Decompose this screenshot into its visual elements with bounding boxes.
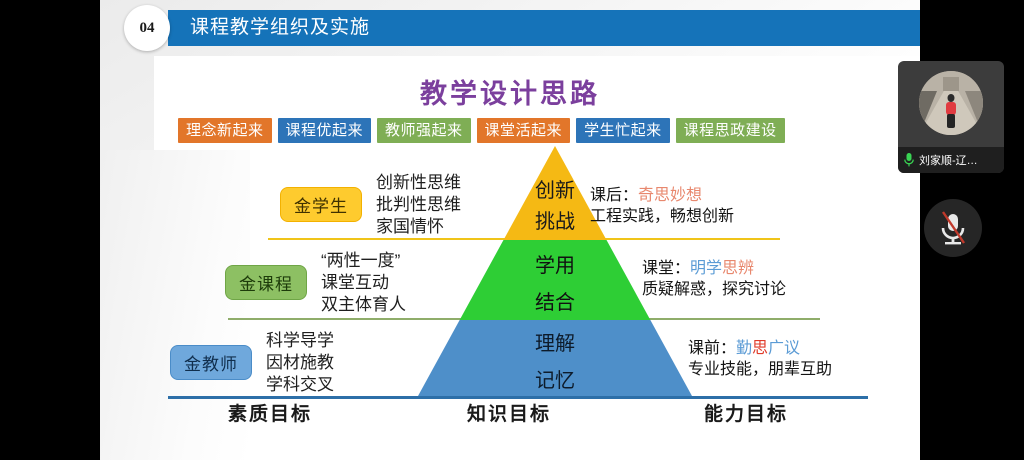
tag-chip: 课程优起来 [278, 118, 372, 143]
tier-bottom-right-highlight-b: 思 [752, 340, 768, 357]
tier-bottom-left-line3: 学科交叉 [266, 374, 334, 396]
tier-bottom-right-prefix: 课前： [688, 340, 736, 357]
presentation-slide: 课程教学组织及实施 04 教学设计思路 理念新起来 课程优起来 教师强起来 课堂… [100, 0, 920, 460]
participant-name: 刘家顺-辽… [919, 152, 978, 168]
tier-middle-left-line2: 课堂互动 [321, 272, 406, 294]
tier-top-left-group: 金学生 创新性思维 批判性思维 家国情怀 [280, 172, 461, 237]
tier-bottom-right-highlight-a: 勤 [736, 340, 752, 357]
avatar-photo [919, 71, 983, 135]
tier-bottom-right-group: 课前：勤思广议 专业技能，朋辈互助 [688, 338, 832, 380]
screen-share-view: 课程教学组织及实施 04 教学设计思路 理念新起来 课程优起来 教师强起来 课堂… [0, 0, 1024, 460]
tier-bottom-left-group: 金教师 科学导学 因材施教 学科交叉 [170, 330, 334, 395]
tier-bottom-left-line2: 因材施教 [266, 352, 334, 374]
pyramid-bottom-center-label: 理解 记忆 [503, 326, 607, 400]
divider-rule-gold [268, 238, 780, 240]
pyramid-bottom-line2: 记忆 [503, 363, 607, 400]
slide-title: 教学设计思路 [100, 72, 920, 111]
pyramid-middle-center-label: 学用 结合 [503, 248, 607, 322]
tier-middle-right-line2: 质疑解惑，探究讨论 [642, 279, 786, 300]
mic-toggle-button[interactable] [924, 199, 982, 257]
tier-top-left-line2: 批判性思维 [376, 194, 461, 216]
tag-chip: 理念新起来 [178, 118, 272, 143]
tier-top-left-line3: 家国情怀 [376, 216, 461, 238]
tier-bottom-left-lines: 科学导学 因材施教 学科交叉 [266, 330, 334, 395]
microphone-muted-icon [924, 199, 982, 257]
tier-middle-left-line3: 双主体育人 [321, 294, 406, 316]
participant-footer: 刘家顺-辽… [898, 147, 1004, 173]
tier-bottom-right-line1: 课前：勤思广议 [688, 338, 832, 359]
tier-middle-left-lines: “两性一度” 课堂互动 双主体育人 [321, 250, 406, 315]
tier-middle-right-group: 课堂：明学思辨 质疑解惑，探究讨论 [642, 258, 786, 300]
goal-label-quality: 素质目标 [228, 399, 312, 426]
tier-top-right-group: 课后：奇思妙想 工程实践，畅想创新 [590, 185, 734, 227]
participant-video-tile[interactable]: 刘家顺-辽… [898, 61, 1004, 173]
slide-section-number-badge: 04 [124, 5, 170, 51]
tier-top-right-prefix: 课后： [590, 187, 638, 204]
tag-chip: 课堂活起来 [477, 118, 571, 143]
tier-bottom-right-line2: 专业技能，朋辈互助 [688, 359, 832, 380]
tier-middle-right-line1: 课堂：明学思辨 [642, 258, 786, 279]
avatar [919, 71, 983, 135]
tier-top-right-line1: 课后：奇思妙想 [590, 185, 734, 206]
pyramid-middle-line1: 学用 [503, 248, 607, 285]
chip-gold-teacher: 金教师 [170, 345, 252, 380]
tier-bottom-right-highlight-c: 广议 [768, 340, 800, 357]
tag-row: 理念新起来 课程优起来 教师强起来 课堂活起来 学生忙起来 课程思政建设 [178, 118, 868, 143]
tag-chip: 教师强起来 [377, 118, 471, 143]
tier-top-right-highlight: 奇思妙想 [638, 187, 702, 204]
tier-middle-right-highlight-a: 明学 [690, 260, 722, 277]
goal-label-ability: 能力目标 [704, 399, 788, 426]
tier-bottom-left-line1: 科学导学 [266, 330, 334, 352]
tier-top-right-line2: 工程实践，畅想创新 [590, 206, 734, 227]
pyramid-middle-line2: 结合 [503, 285, 607, 322]
goal-label-knowledge: 知识目标 [467, 399, 551, 426]
pyramid-bottom-line1: 理解 [503, 326, 607, 363]
tag-chip: 课程思政建设 [676, 118, 785, 143]
tier-top-left-lines: 创新性思维 批判性思维 家国情怀 [376, 172, 461, 237]
microphone-icon [903, 152, 915, 168]
chip-gold-student: 金学生 [280, 187, 362, 222]
chip-gold-course: 金课程 [225, 265, 307, 300]
slide-header-title: 课程教学组织及实施 [190, 10, 370, 46]
tag-chip: 学生忙起来 [576, 118, 670, 143]
tier-middle-right-prefix: 课堂： [642, 260, 690, 277]
tier-middle-left-line1: “两性一度” [321, 250, 406, 272]
tier-middle-right-highlight-b: 思辨 [722, 260, 754, 277]
tier-middle-left-group: 金课程 “两性一度” 课堂互动 双主体育人 [225, 250, 406, 315]
tier-top-left-line1: 创新性思维 [376, 172, 461, 194]
